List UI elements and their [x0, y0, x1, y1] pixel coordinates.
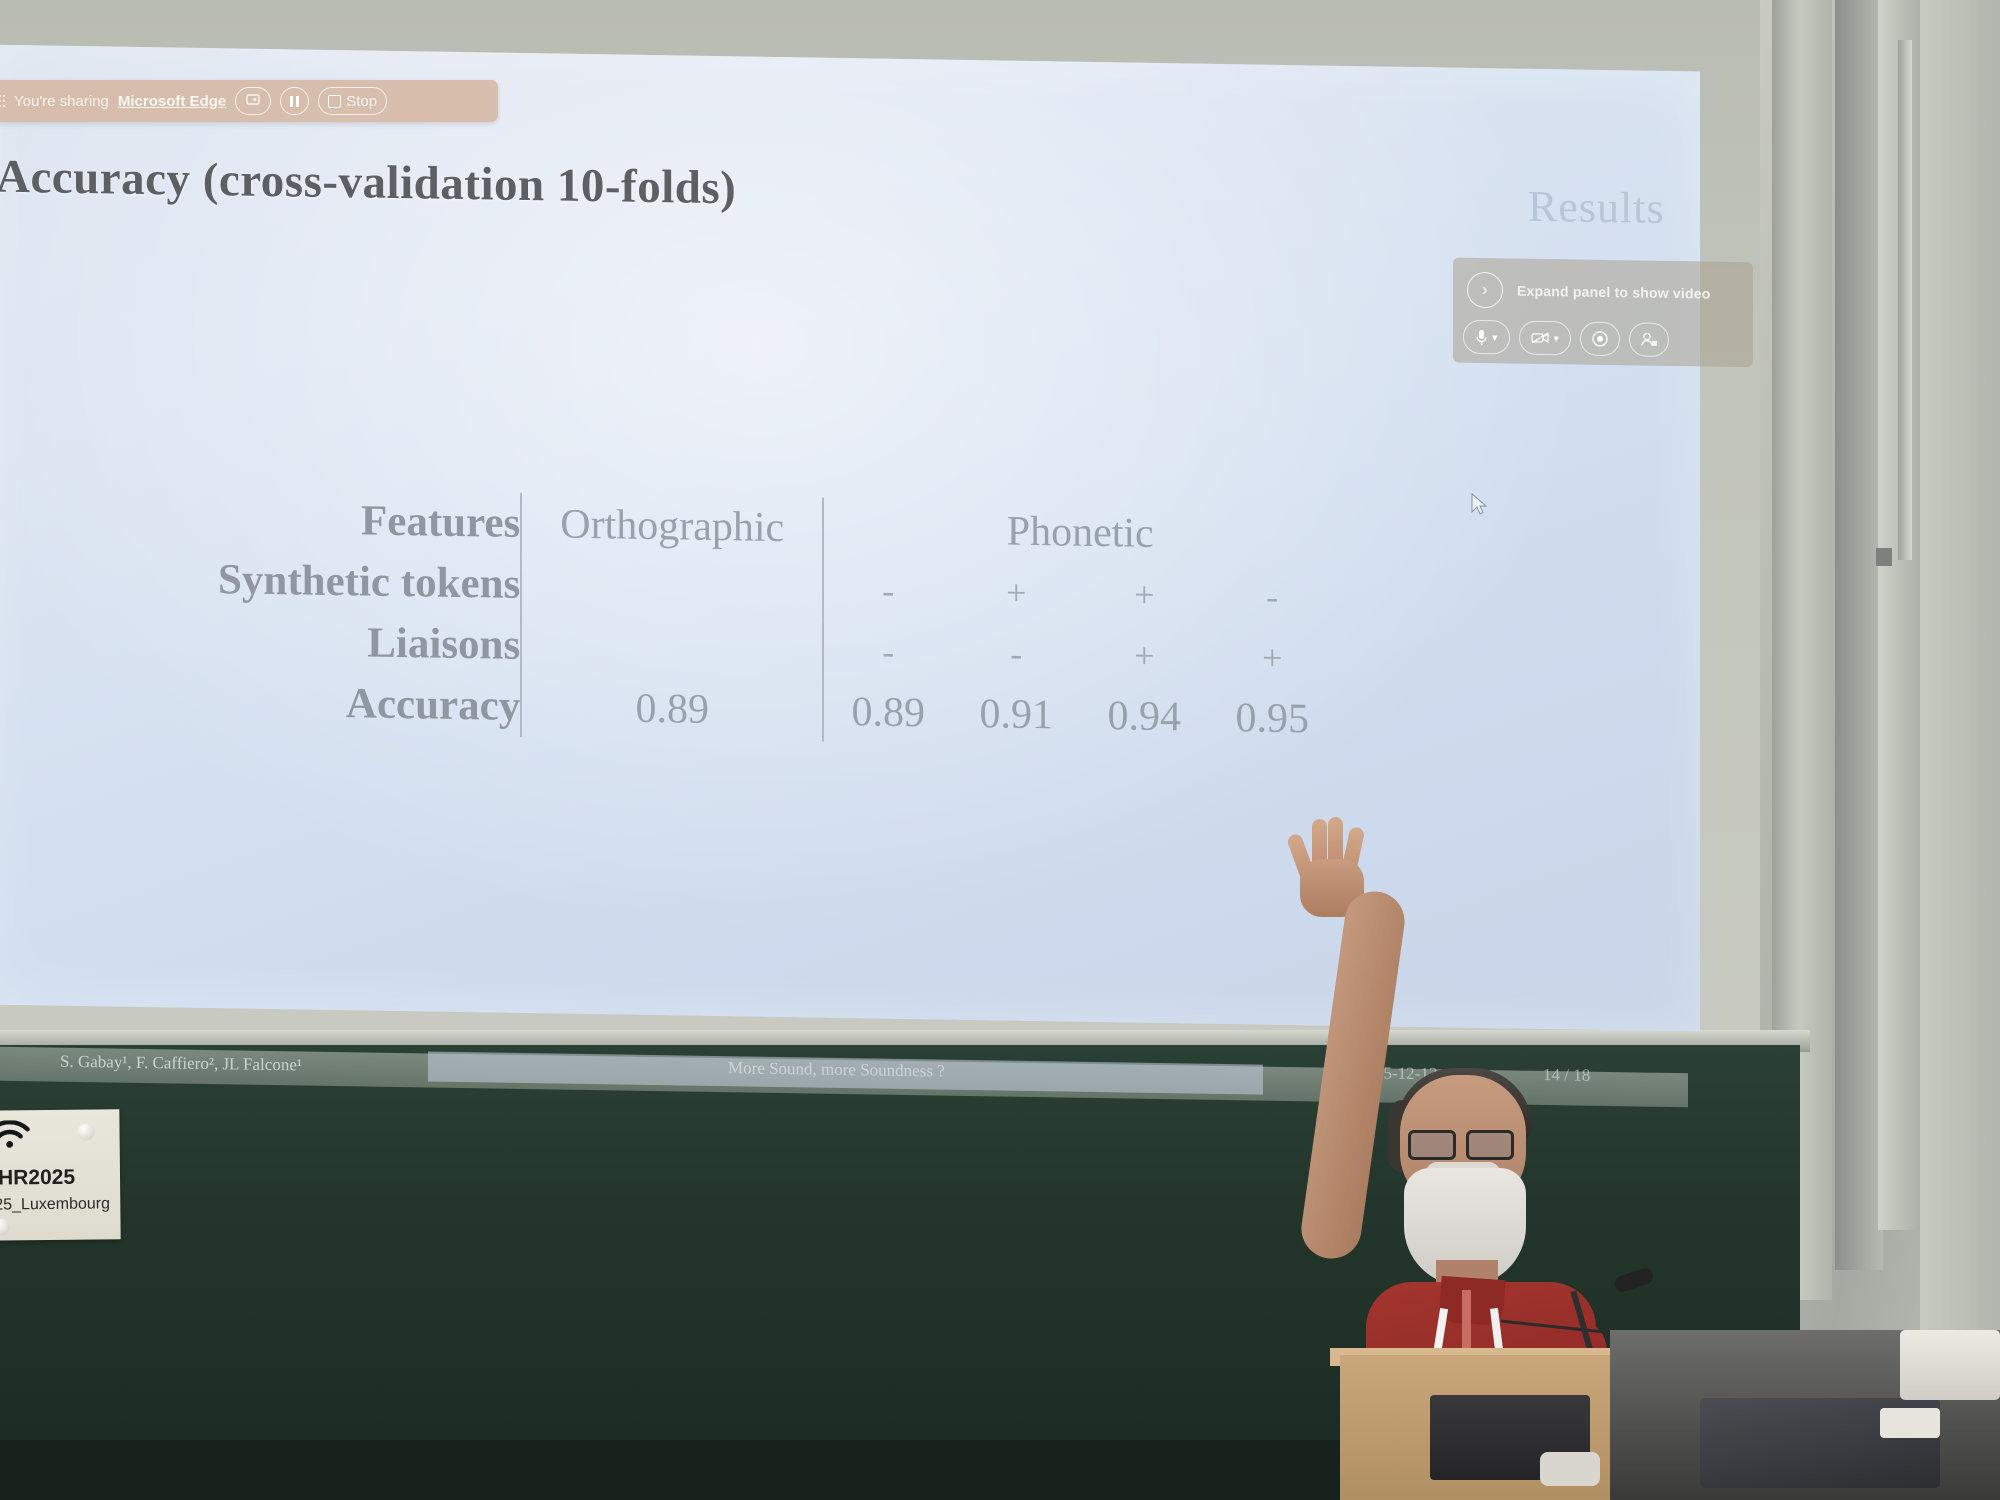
- results-table: Features Orthographic Phonetic Synthetic…: [218, 488, 1468, 752]
- cell-ortho-synthetic: [521, 554, 823, 620]
- raised-arm: [1298, 888, 1409, 1263]
- wifi-network-subtitle: 25_Luxembourg: [0, 1195, 110, 1214]
- cell-phon-accuracy-4: 0.95: [1208, 687, 1336, 750]
- column-header-orthographic: Orthographic: [521, 493, 823, 559]
- pause-sharing-button[interactable]: [280, 87, 309, 115]
- wifi-info-sign: HR2025 25_Luxembourg: [0, 1109, 121, 1240]
- shirt-placket: [1462, 1290, 1471, 1354]
- cell-phon-synthetic-1: -: [823, 559, 952, 622]
- row-label-synthetic-tokens: Synthetic tokens: [218, 549, 521, 615]
- sign-screw-bottom: [0, 1218, 10, 1235]
- white-equipment: [1900, 1330, 2000, 1400]
- cell-phon-accuracy-3: 0.94: [1080, 685, 1208, 748]
- glasses: [1408, 1130, 1520, 1156]
- cell-phon-synthetic-4: -: [1208, 565, 1336, 628]
- cell-phon-synthetic-3: +: [1080, 563, 1208, 626]
- screen-share-toolbar[interactable]: You're sharing Microsoft Edge Stop: [0, 80, 498, 122]
- wall-rail-notch: [1876, 548, 1892, 566]
- record-icon[interactable]: [1580, 322, 1620, 357]
- chevron-right-icon[interactable]: ›: [1467, 272, 1503, 309]
- cell-phon-accuracy-1: 0.89: [823, 681, 952, 744]
- footer-talk-title: More Sound, more Soundness ?: [728, 1058, 945, 1081]
- screenshot-root: Accuracy (cross-validation 10-folds) Res…: [0, 0, 2000, 1500]
- cell-ortho-accuracy: 0.89: [521, 676, 823, 742]
- cell-phon-liaisons-1: -: [823, 620, 952, 683]
- far-wall: [1920, 0, 2000, 1330]
- share-window-icon[interactable]: [235, 87, 271, 115]
- projection-screen: Accuracy (cross-validation 10-folds) Res…: [0, 45, 1700, 1032]
- teams-panel-header: › Expand panel to show video: [1467, 272, 1710, 312]
- cell-phon-synthetic-2: +: [952, 561, 1080, 624]
- microphone-icon[interactable]: ▾: [1463, 320, 1510, 355]
- sharing-prefix-label: You're sharing: [14, 93, 109, 110]
- wall-rail-inset: [1898, 40, 1912, 560]
- mic-chevron-icon[interactable]: ▾: [1492, 331, 1498, 344]
- row-label-features: Features: [218, 488, 521, 554]
- cell-ortho-liaisons: [521, 615, 823, 681]
- teams-panel-controls: ▾ ▾: [1463, 320, 1669, 357]
- stop-label: Stop: [346, 93, 377, 110]
- camera-off-icon[interactable]: ▾: [1519, 321, 1572, 356]
- wifi-icon: [0, 1120, 32, 1150]
- sign-screw-top: [77, 1124, 94, 1141]
- pause-icon: [290, 96, 299, 107]
- stop-icon: [328, 95, 341, 108]
- people-icon[interactable]: [1629, 322, 1669, 357]
- row-label-liaisons: Liaisons: [218, 610, 521, 676]
- blackboard-shadow: [0, 1440, 1430, 1500]
- cell-phon-liaisons-2: -: [952, 622, 1080, 685]
- slide-section-label: Results: [1528, 181, 1665, 234]
- cell-phon-liaisons-3: +: [1080, 624, 1208, 687]
- sharing-app-name[interactable]: Microsoft Edge: [118, 93, 226, 110]
- teams-expand-label: Expand panel to show video: [1517, 283, 1710, 302]
- wall-pillar-secondary: [1835, 0, 1883, 1270]
- row-label-accuracy: Accuracy: [218, 671, 521, 737]
- column-header-phonetic: Phonetic: [823, 498, 1336, 567]
- white-equipment-secondary: [1880, 1408, 1940, 1438]
- wifi-network-name: HR2025: [0, 1166, 75, 1191]
- stop-sharing-button[interactable]: Stop: [318, 87, 387, 115]
- camera-chevron-icon[interactable]: ▾: [1554, 332, 1560, 345]
- footer-authors: S. Gabay¹, F. Caffiero², JL Falcone¹: [60, 1052, 302, 1076]
- cell-phon-liaisons-4: +: [1208, 626, 1336, 689]
- cell-phon-accuracy-2: 0.91: [952, 683, 1080, 746]
- drag-grip-icon[interactable]: [0, 95, 5, 107]
- slide-title: Accuracy (cross-validation 10-folds): [0, 150, 736, 216]
- teams-video-panel[interactable]: › Expand panel to show video ▾: [1453, 258, 1753, 368]
- desk-device: [1540, 1452, 1600, 1486]
